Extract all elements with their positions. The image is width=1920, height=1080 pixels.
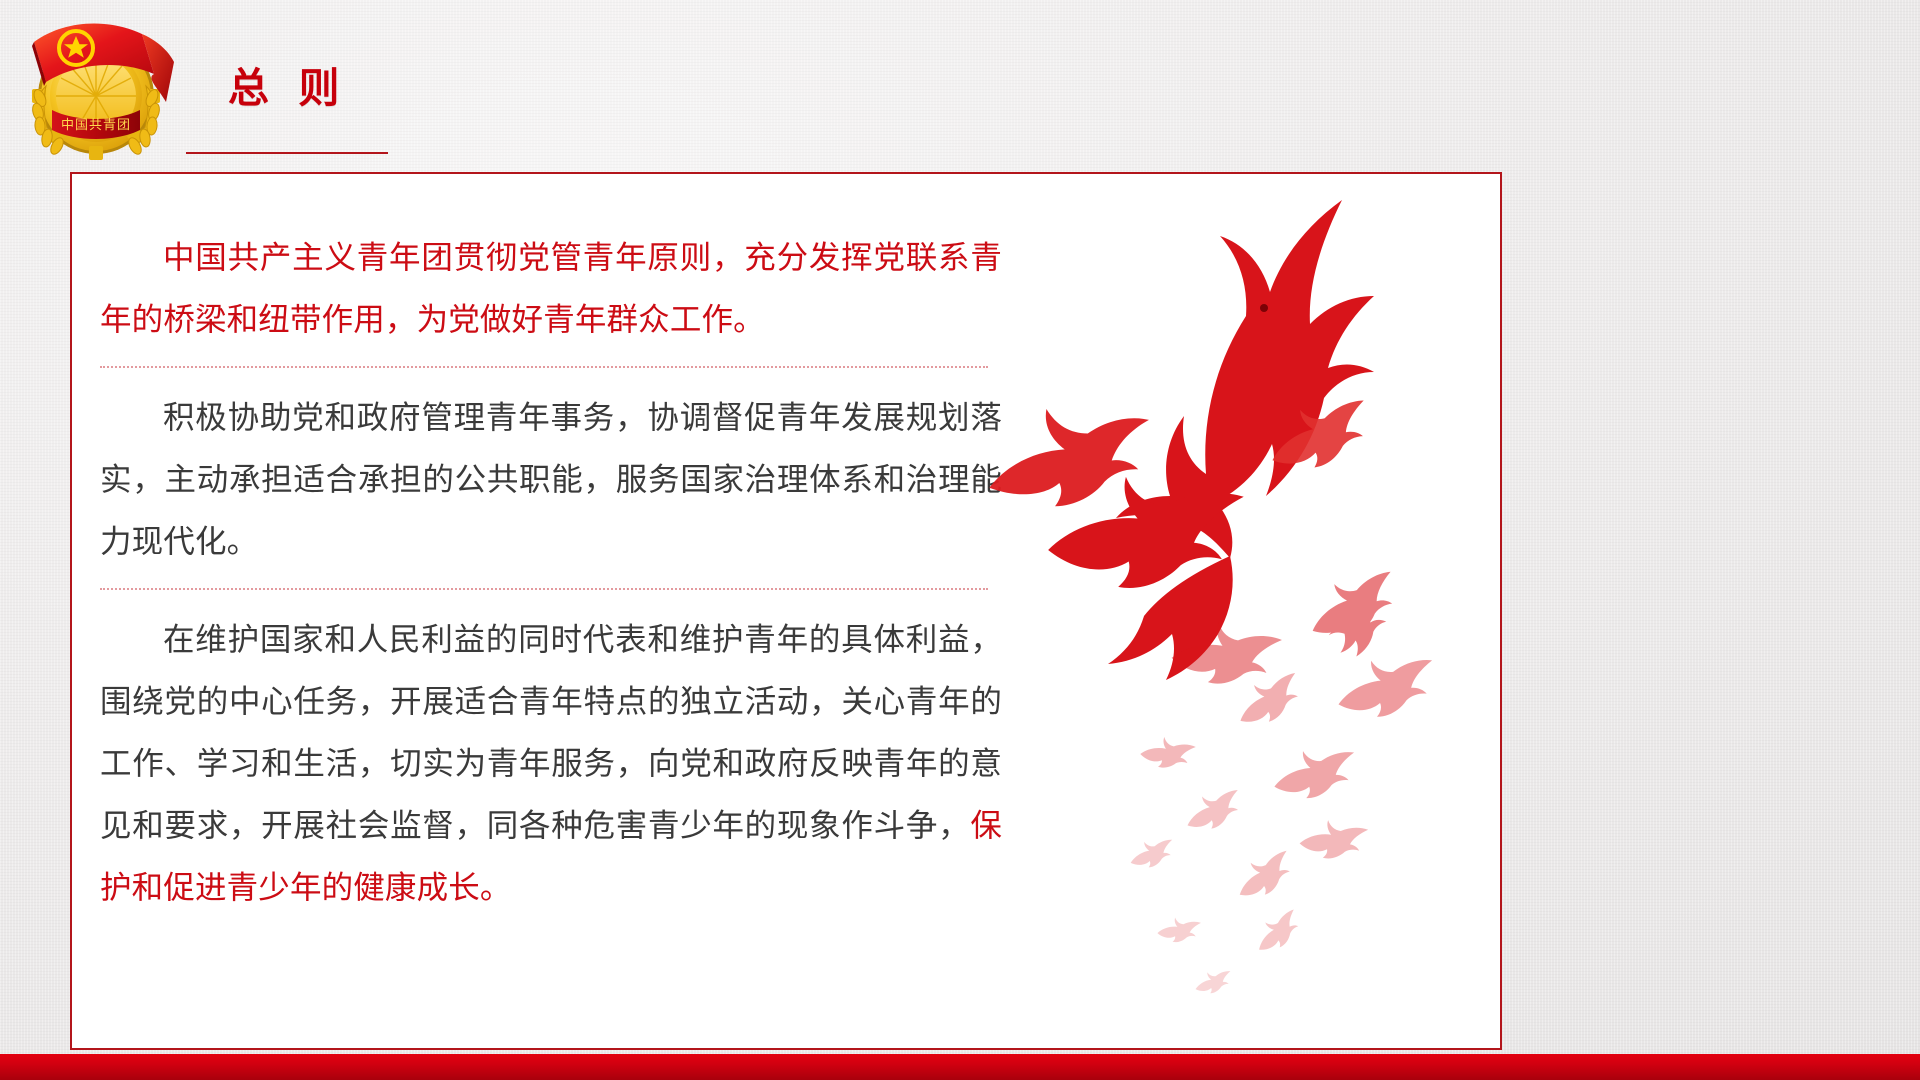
communist-youth-league-emblem-icon: 中国共青团 bbox=[16, 10, 176, 170]
paragraph-2: 积极协助党和政府管理青年事务，协调督促青年发展规划落实，主动承担适合承担的公共职… bbox=[100, 386, 1002, 572]
content-body: 中国共产主义青年团贯彻党管青年原则，充分发挥党联系青年的桥梁和纽带作用，为党做好… bbox=[100, 204, 1002, 924]
bottom-accent-bar bbox=[0, 1054, 1920, 1080]
paragraph-1: 中国共产主义青年团贯彻党管青年原则，充分发挥党联系青年的桥梁和纽带作用，为党做好… bbox=[100, 226, 1002, 350]
paragraph-divider-2 bbox=[100, 588, 988, 590]
paragraph-divider-1 bbox=[100, 366, 988, 368]
paragraph-3-block: 在维护国家和人民利益的同时代表和维护青年的具体利益，围绕党的中心任务，开展适合青… bbox=[100, 594, 1002, 924]
paragraph-3: 在维护国家和人民利益的同时代表和维护青年的具体利益，围绕党的中心任务，开展适合青… bbox=[100, 608, 1002, 918]
content-card: 中国共产主义青年团贯彻党管青年原则，充分发挥党联系青年的桥梁和纽带作用，为党做好… bbox=[70, 172, 1502, 1050]
emblem-league-name: 中国共青团 bbox=[61, 117, 131, 132]
title-underline-rule bbox=[186, 152, 388, 154]
paragraph-2-block: 积极协助党和政府管理青年事务，协调督促青年发展规划落实，主动承担适合承担的公共职… bbox=[100, 372, 1002, 578]
paragraph-3-text: 在维护国家和人民利益的同时代表和维护青年的具体利益，围绕党的中心任务，开展适合青… bbox=[100, 621, 1002, 843]
slide-header: 中国共青团 总 则 bbox=[0, 0, 1920, 172]
paragraph-1-block: 中国共产主义青年团贯彻党管青年原则，充分发挥党联系青年的桥梁和纽带作用，为党做好… bbox=[100, 204, 1002, 356]
page-title: 总 则 bbox=[228, 68, 348, 109]
